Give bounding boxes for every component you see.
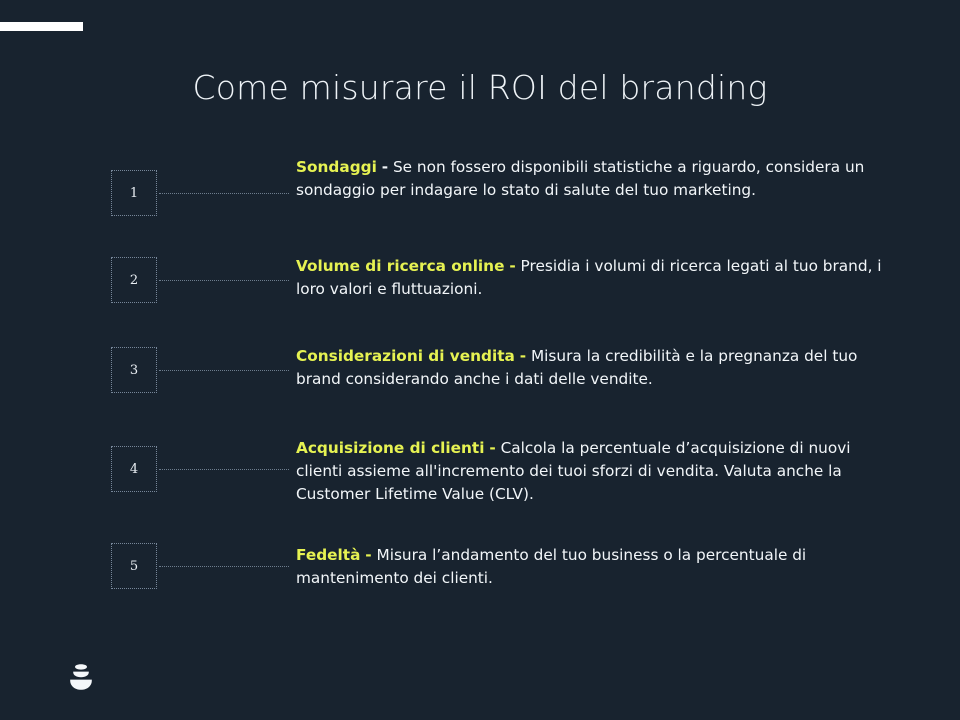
point-lead-label: Fedeltà — [296, 546, 360, 564]
point-marker: 3 — [111, 347, 289, 395]
point-lead-label: Acquisizione di clienti — [296, 439, 484, 457]
point-lead-label: Considerazioni di vendita — [296, 347, 515, 365]
page-title: Come misurare il ROI del branding — [0, 68, 960, 107]
dotted-connector-line — [159, 370, 289, 371]
point-number-label: 1 — [130, 187, 138, 200]
point-lead-label: Sondaggi — [296, 158, 377, 176]
dotted-connector-line — [159, 193, 289, 194]
point-number-label: 2 — [130, 274, 138, 287]
point-text: Acquisizione di clienti - Calcola la per… — [296, 437, 896, 506]
point-lead-label: Volume di ricerca online — [296, 257, 504, 275]
point-text: Considerazioni di vendita - Misura la cr… — [296, 345, 896, 391]
stacked-layers-logo-icon — [66, 662, 96, 696]
point-number-box: 2 — [111, 257, 157, 303]
point-text: Sondaggi - Se non fossero disponibili st… — [296, 156, 896, 202]
point-number-box: 1 — [111, 170, 157, 216]
point-number-label: 4 — [130, 463, 138, 476]
point-number-box: 3 — [111, 347, 157, 393]
point-marker: 5 — [111, 543, 289, 591]
point-marker: 2 — [111, 257, 289, 305]
point-text: Fedeltà - Misura l’andamento del tuo bus… — [296, 544, 896, 590]
dotted-connector-line — [159, 280, 289, 281]
dotted-connector-line — [159, 566, 289, 567]
point-body-text: Misura l’andamento del tuo business o la… — [296, 546, 806, 587]
point-number-box: 4 — [111, 446, 157, 492]
dotted-connector-line — [159, 469, 289, 470]
top-accent-bar — [0, 22, 83, 31]
point-marker: 4 — [111, 446, 289, 494]
point-number-box: 5 — [111, 543, 157, 589]
point-marker: 1 — [111, 170, 289, 218]
point-number-label: 5 — [130, 560, 138, 573]
point-text: Volume di ricerca online - Presidia i vo… — [296, 255, 896, 301]
point-number-label: 3 — [130, 364, 138, 377]
